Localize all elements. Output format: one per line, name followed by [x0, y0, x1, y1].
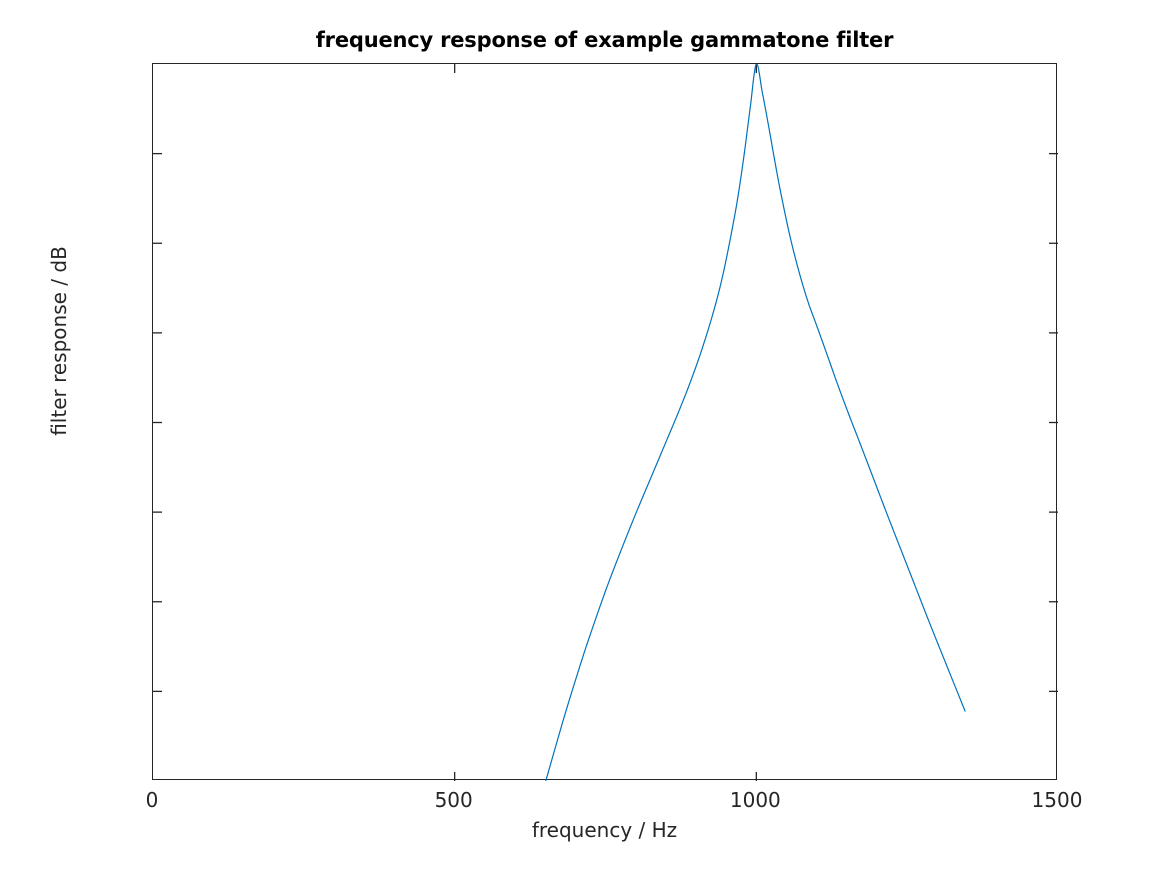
x-tick-label: 0: [146, 788, 159, 812]
tick-marks: [153, 64, 1058, 781]
x-tick-label: 1500: [1032, 788, 1083, 812]
data-line-gammatone-response: [546, 64, 965, 781]
plot-axes: [152, 63, 1057, 780]
y-axis-label: filter response / dB: [47, 246, 71, 436]
figure-canvas: frequency response of example gammatone …: [0, 0, 1167, 875]
chart-title: frequency response of example gammatone …: [152, 28, 1057, 52]
x-tick-label: 500: [435, 788, 473, 812]
plot-svg: [153, 64, 1058, 781]
x-tick-label: 1000: [730, 788, 781, 812]
x-axis-label: frequency / Hz: [152, 818, 1057, 842]
